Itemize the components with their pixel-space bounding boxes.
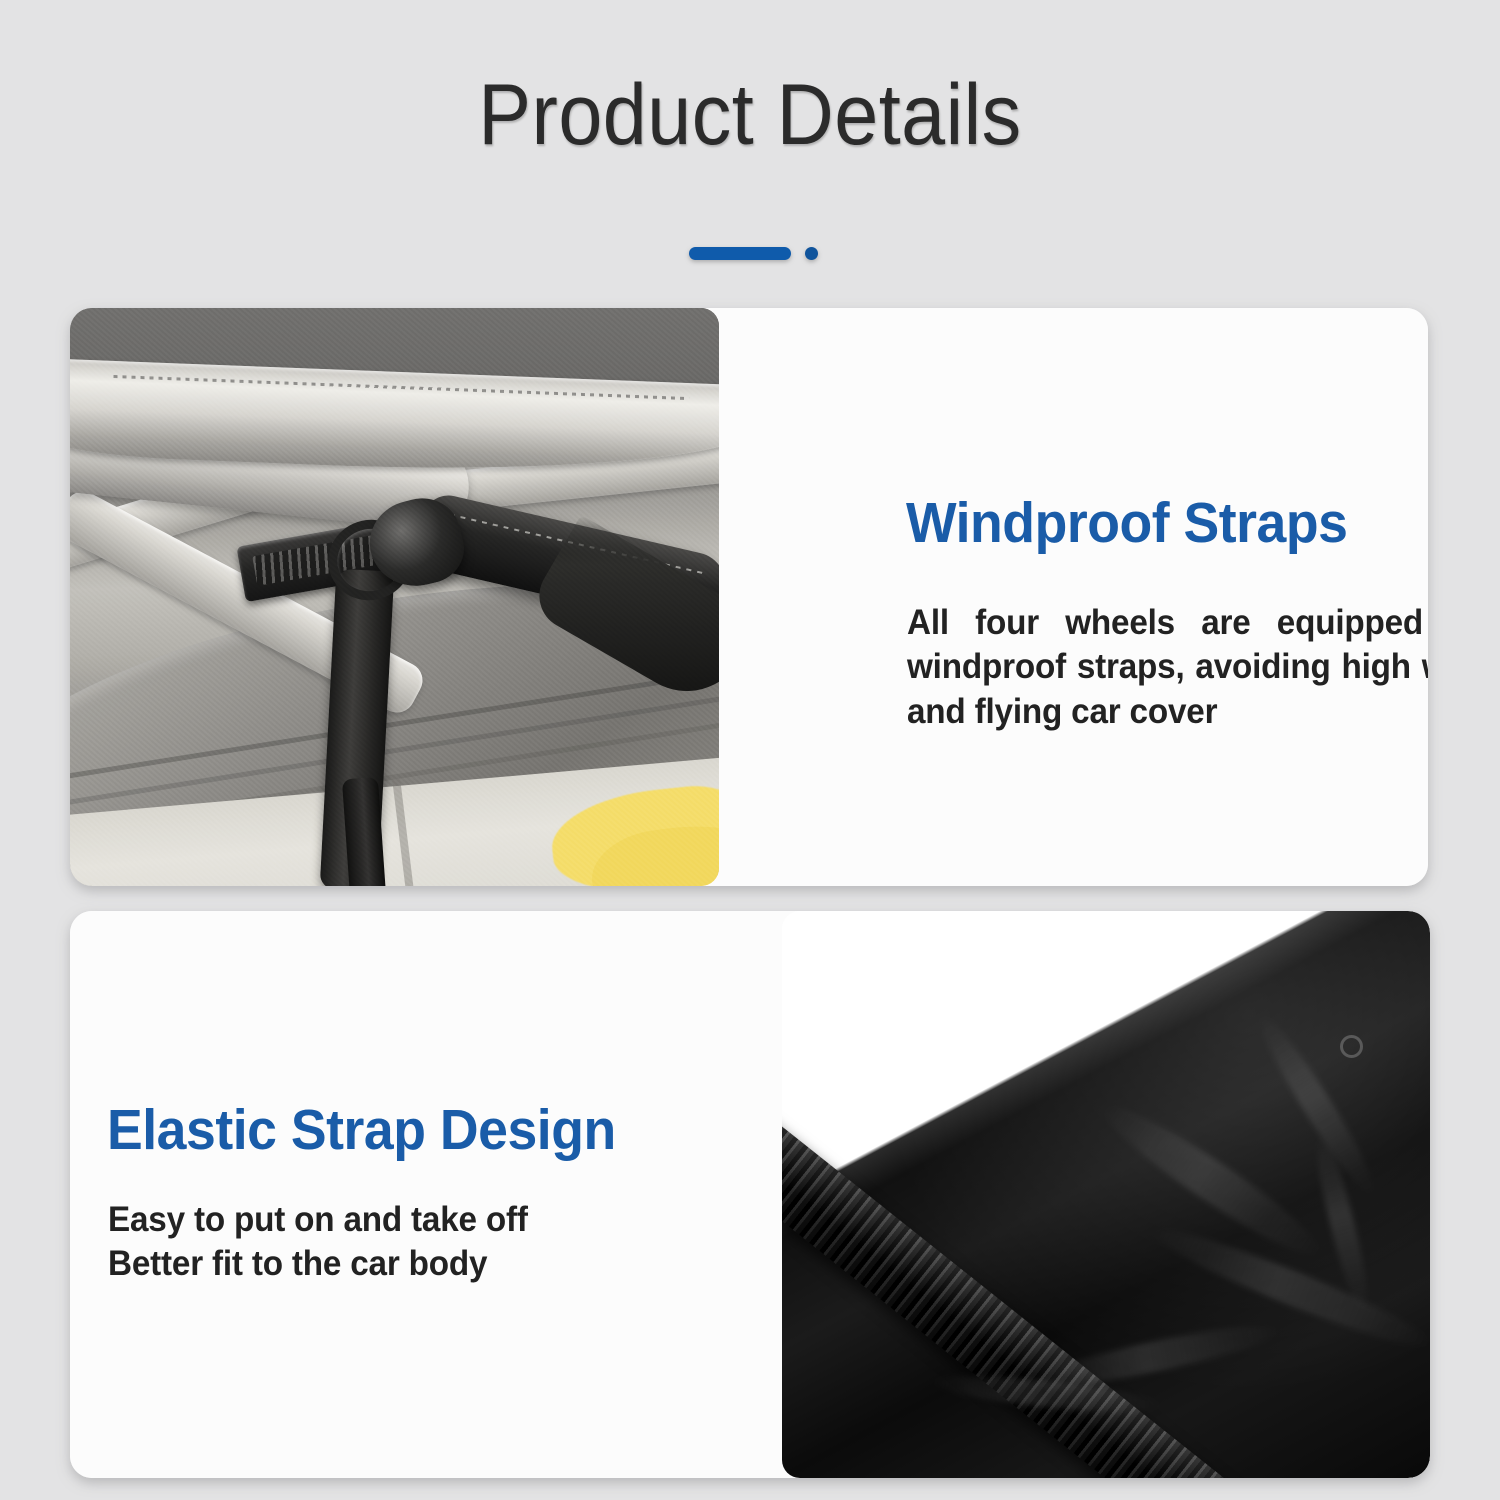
- feature-card-elastic-strap-design: Elastic Strap Design Easy to put on and …: [70, 911, 1430, 1478]
- card-text-panel: Windproof Straps All four wheels are equ…: [719, 308, 1428, 886]
- fabric-sheen-overlay: [782, 911, 1430, 1478]
- card-text-panel: Elastic Strap Design Easy to put on and …: [70, 911, 782, 1478]
- photo-grain-overlay: [70, 308, 719, 886]
- feature-description: Easy to put on and take offBetter fit to…: [108, 1198, 640, 1287]
- title-divider: [689, 247, 818, 260]
- feature-card-windproof-straps: Windproof Straps All four wheels are equ…: [70, 308, 1428, 886]
- elastic-hem-closeup-photo: [782, 911, 1430, 1478]
- feature-description-line: Easy to put on and take off: [108, 1200, 528, 1239]
- feature-description-line: Better fit to the car body: [108, 1244, 487, 1283]
- divider-dot: [805, 247, 818, 260]
- feature-heading: Windproof Straps: [906, 494, 1347, 554]
- feature-description: All four wheels are equipped with windpr…: [907, 601, 1428, 734]
- feature-heading: Elastic Strap Design: [107, 1101, 616, 1161]
- divider-bar: [689, 247, 791, 260]
- page-title: Product Details: [60, 72, 1440, 158]
- windproof-strap-on-wheel-photo: [70, 308, 719, 886]
